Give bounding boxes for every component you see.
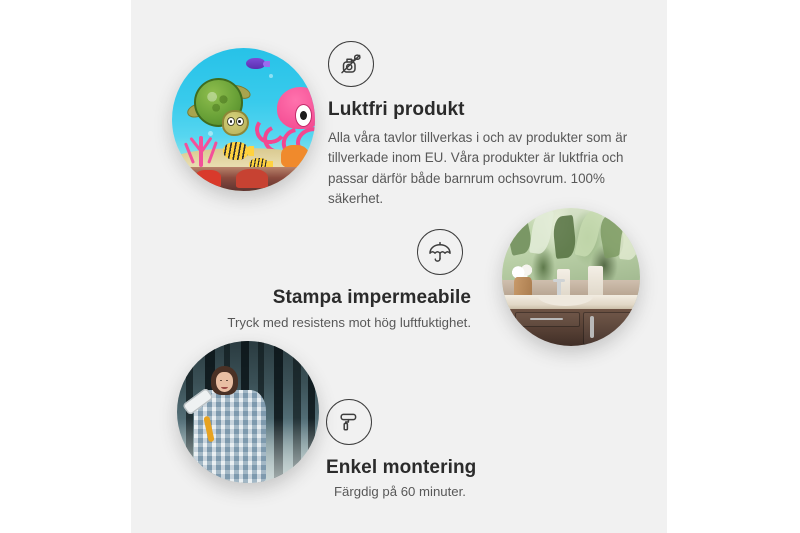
no-perfume-icon [328, 41, 374, 87]
feature-title: Enkel montering [326, 456, 576, 480]
paint-roller-icon [326, 399, 372, 445]
woman-with-roller [188, 364, 276, 483]
feature-easy-mounting: Enkel montering Färgdig på 60 minuter. [326, 399, 576, 502]
starfish-illustration [281, 145, 310, 168]
feature-body: Färgdig på 60 minuter. [326, 482, 576, 502]
coral-illustration [181, 124, 224, 167]
sea-foreground-strip [172, 167, 315, 191]
vanity-cabinet [510, 309, 640, 346]
cabinet-door [583, 312, 637, 345]
fish-yellow [223, 142, 247, 159]
feature-title: Stampa impermeabile [225, 286, 471, 310]
feature-title: Luktfri produkt [328, 98, 633, 122]
photo-forest [177, 341, 319, 483]
bubble-icon [269, 74, 273, 78]
feature-body: Tryck med resistens mot hög luftfuktighe… [225, 313, 471, 333]
promo-banner: Luktfri produkt Alla våra tavlor tillver… [0, 0, 800, 533]
feature-waterproof: Stampa impermeabile Tryck med resistens … [225, 229, 471, 333]
umbrella-icon [417, 229, 463, 275]
photo-bathroom [502, 208, 640, 346]
fish-purple [246, 58, 265, 69]
feature-odourless: Luktfri produkt Alla våra tavlor tillver… [328, 41, 633, 210]
feature-body: Alla våra tavlor tillverkas i och av pro… [328, 128, 633, 210]
photo-sea [172, 48, 315, 191]
sea-scene [172, 48, 315, 191]
bathroom-scene [502, 208, 640, 346]
cabinet-drawer [515, 312, 579, 327]
forest-scene [177, 341, 319, 483]
